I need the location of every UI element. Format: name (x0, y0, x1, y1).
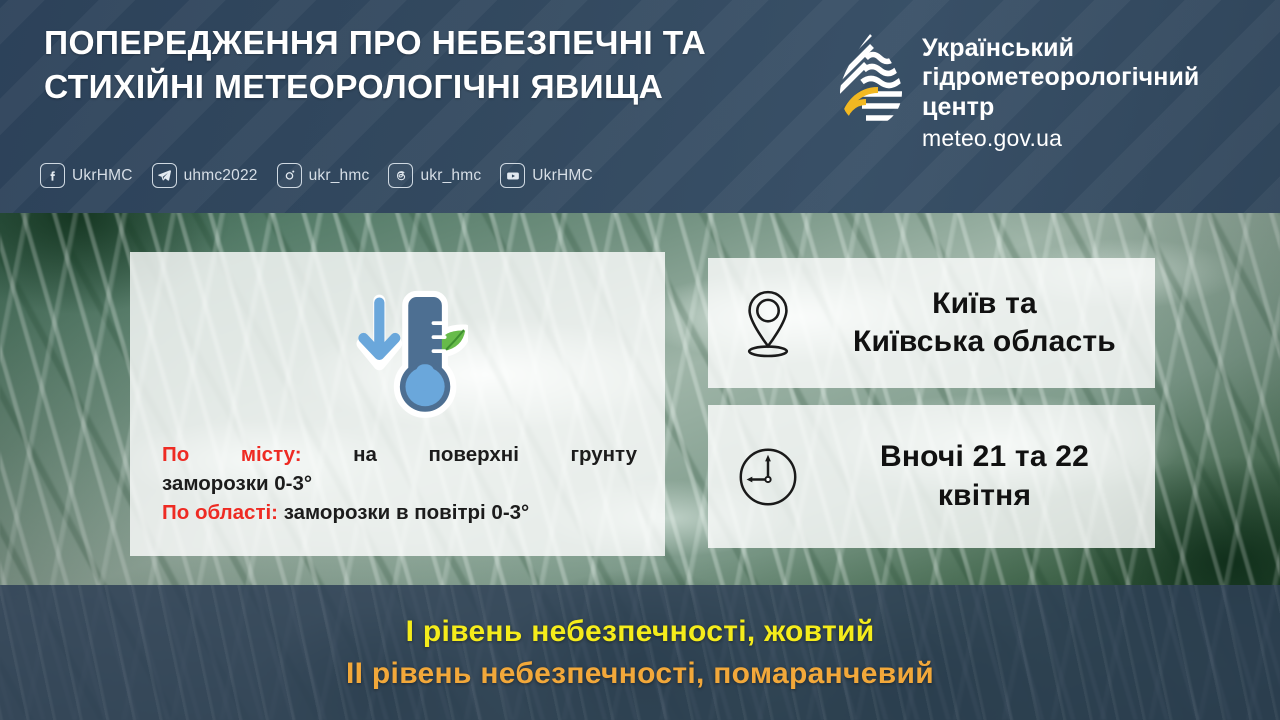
warning-detail-text: По місту: на поверхні грунту заморозки 0… (162, 440, 637, 527)
clock-icon (708, 444, 828, 510)
warning-infographic: ПОПЕРЕДЖЕННЯ ПРО НЕБЕЗПЕЧНІ ТА СТИХІЙНІ … (0, 0, 1280, 720)
map-pin-icon (708, 286, 828, 360)
facebook-icon (40, 163, 65, 188)
danger-level-2: II рівень небезпечності, помаранчевий (346, 654, 934, 694)
time-card: Вночі 21 та 22 квітня (708, 405, 1155, 548)
time-label: Вночі 21 та 22 квітня (828, 438, 1155, 515)
social-handle-telegram: uhmc2022 (184, 167, 258, 185)
region-label: По області: (162, 501, 278, 524)
footer-band: I рівень небезпечності, жовтий II рівень… (0, 585, 1280, 720)
social-links: UkrHMC uhmc2022 (40, 163, 612, 188)
social-handle-facebook: UkrHMC (72, 167, 133, 185)
city-text-line2: заморозки 0-3° (162, 472, 312, 495)
social-link-facebook[interactable]: UkrHMC (40, 163, 133, 188)
social-link-telegram[interactable]: uhmc2022 (152, 163, 258, 188)
ukrhmc-droplet-logo-icon (836, 32, 906, 128)
social-link-instagram[interactable]: ukr_hmc (277, 163, 370, 188)
organization-branding: Український гідрометеорологічний центр m… (836, 32, 1199, 152)
youtube-icon (500, 163, 525, 188)
social-handle-instagram: ukr_hmc (309, 167, 370, 185)
warning-detail-card: По місту: на поверхні грунту заморозки 0… (130, 252, 665, 556)
organization-url[interactable]: meteo.gov.ua (922, 125, 1199, 153)
city-label: По місту: (162, 443, 302, 466)
location-label: Київ та Київська область (828, 285, 1155, 362)
page-title: ПОПЕРЕДЖЕННЯ ПРО НЕБЕЗПЕЧНІ ТА СТИХІЙНІ … (44, 22, 834, 109)
instagram-icon (277, 163, 302, 188)
social-link-youtube[interactable]: UkrHMC (500, 163, 593, 188)
region-text: заморозки в повітрі 0-3° (284, 501, 530, 524)
social-handle-threads: ukr_hmc (420, 167, 481, 185)
location-card: Київ та Київська область (708, 258, 1155, 388)
social-handle-youtube: UkrHMC (532, 167, 593, 185)
organization-name: Український гідрометеорологічний центр (922, 34, 1199, 122)
thermometer-frost-icon (130, 278, 665, 428)
telegram-icon (152, 163, 177, 188)
danger-level-1: I рівень небезпечності, жовтий (406, 612, 875, 652)
threads-icon (388, 163, 413, 188)
city-text-line1: на поверхні грунту (353, 443, 637, 466)
social-link-threads[interactable]: ukr_hmc (388, 163, 481, 188)
header-band: ПОПЕРЕДЖЕННЯ ПРО НЕБЕЗПЕЧНІ ТА СТИХІЙНІ … (0, 0, 1280, 213)
